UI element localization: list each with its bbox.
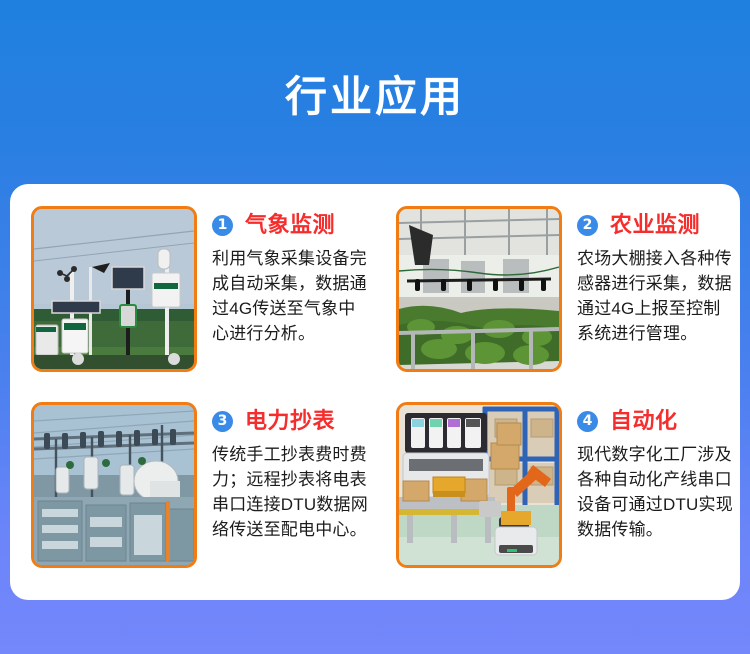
card-head: 2 农业监测: [577, 210, 732, 240]
card-body: 1 气象监测 利用气象采集设备完成自动采集，数据通过4G传送至气象中心进行分析。: [197, 206, 375, 346]
card-body: 2 农业监测 农场大棚接入各种传感器进行采集，数据通过4G上报至控制系统进行管理…: [562, 206, 740, 346]
card-grid: 1 气象监测 利用气象采集设备完成自动采集，数据通过4G传送至气象中心进行分析。: [10, 184, 740, 600]
card-title: 农业监测: [610, 213, 700, 237]
greenhouse-illustration: [399, 209, 559, 369]
card-head: 3 电力抄表: [212, 406, 367, 436]
card-title: 自动化: [610, 409, 678, 433]
card-head: 4 自动化: [577, 406, 732, 436]
substation-illustration: [34, 405, 194, 565]
industry-application-panel: 1 气象监测 利用气象采集设备完成自动采集，数据通过4G传送至气象中心进行分析。: [10, 184, 740, 600]
automated-factory-photo: [396, 402, 562, 568]
factory-illustration: [399, 405, 559, 565]
card-description: 传统手工抄表费时费力；远程抄表将电表串口连接DTU数据网络传送至配电中心。: [212, 442, 370, 542]
greenhouse-farm-photo: [396, 206, 562, 372]
power-substation-photo: [31, 402, 197, 568]
card-title: 电力抄表: [245, 409, 335, 433]
card-body: 4 自动化 现代数字化工厂涉及各种自动化产线串口设备可通过DTU实现数据传输。: [562, 402, 740, 542]
card-number-badge: 3: [212, 411, 233, 432]
card-description: 现代数字化工厂涉及各种自动化产线串口设备可通过DTU实现数据传输。: [577, 442, 735, 542]
card-description: 利用气象采集设备完成自动采集，数据通过4G传送至气象中心进行分析。: [212, 246, 370, 346]
application-card-power-meter[interactable]: 3 电力抄表 传统手工抄表费时费力；远程抄表将电表串口连接DTU数据网络传送至配…: [10, 402, 375, 598]
page-title: 行业应用: [285, 76, 465, 118]
card-body: 3 电力抄表 传统手工抄表费时费力；远程抄表将电表串口连接DTU数据网络传送至配…: [197, 402, 375, 542]
application-card-automation[interactable]: 4 自动化 现代数字化工厂涉及各种自动化产线串口设备可通过DTU实现数据传输。: [375, 402, 740, 598]
card-description: 农场大棚接入各种传感器进行采集，数据通过4G上报至控制系统进行管理。: [577, 246, 735, 346]
application-card-weather[interactable]: 1 气象监测 利用气象采集设备完成自动采集，数据通过4G传送至气象中心进行分析。: [10, 206, 375, 402]
application-card-agriculture[interactable]: 2 农业监测 农场大棚接入各种传感器进行采集，数据通过4G上报至控制系统进行管理…: [375, 206, 740, 402]
card-head: 1 气象监测: [212, 210, 367, 240]
weather-station-photo: [31, 206, 197, 372]
page-header: 行业应用: [0, 0, 750, 184]
card-title: 气象监测: [245, 213, 335, 237]
weather-station-illustration: [34, 209, 194, 369]
card-number-badge: 2: [577, 215, 598, 236]
card-number-badge: 4: [577, 411, 598, 432]
card-number-badge: 1: [212, 215, 233, 236]
